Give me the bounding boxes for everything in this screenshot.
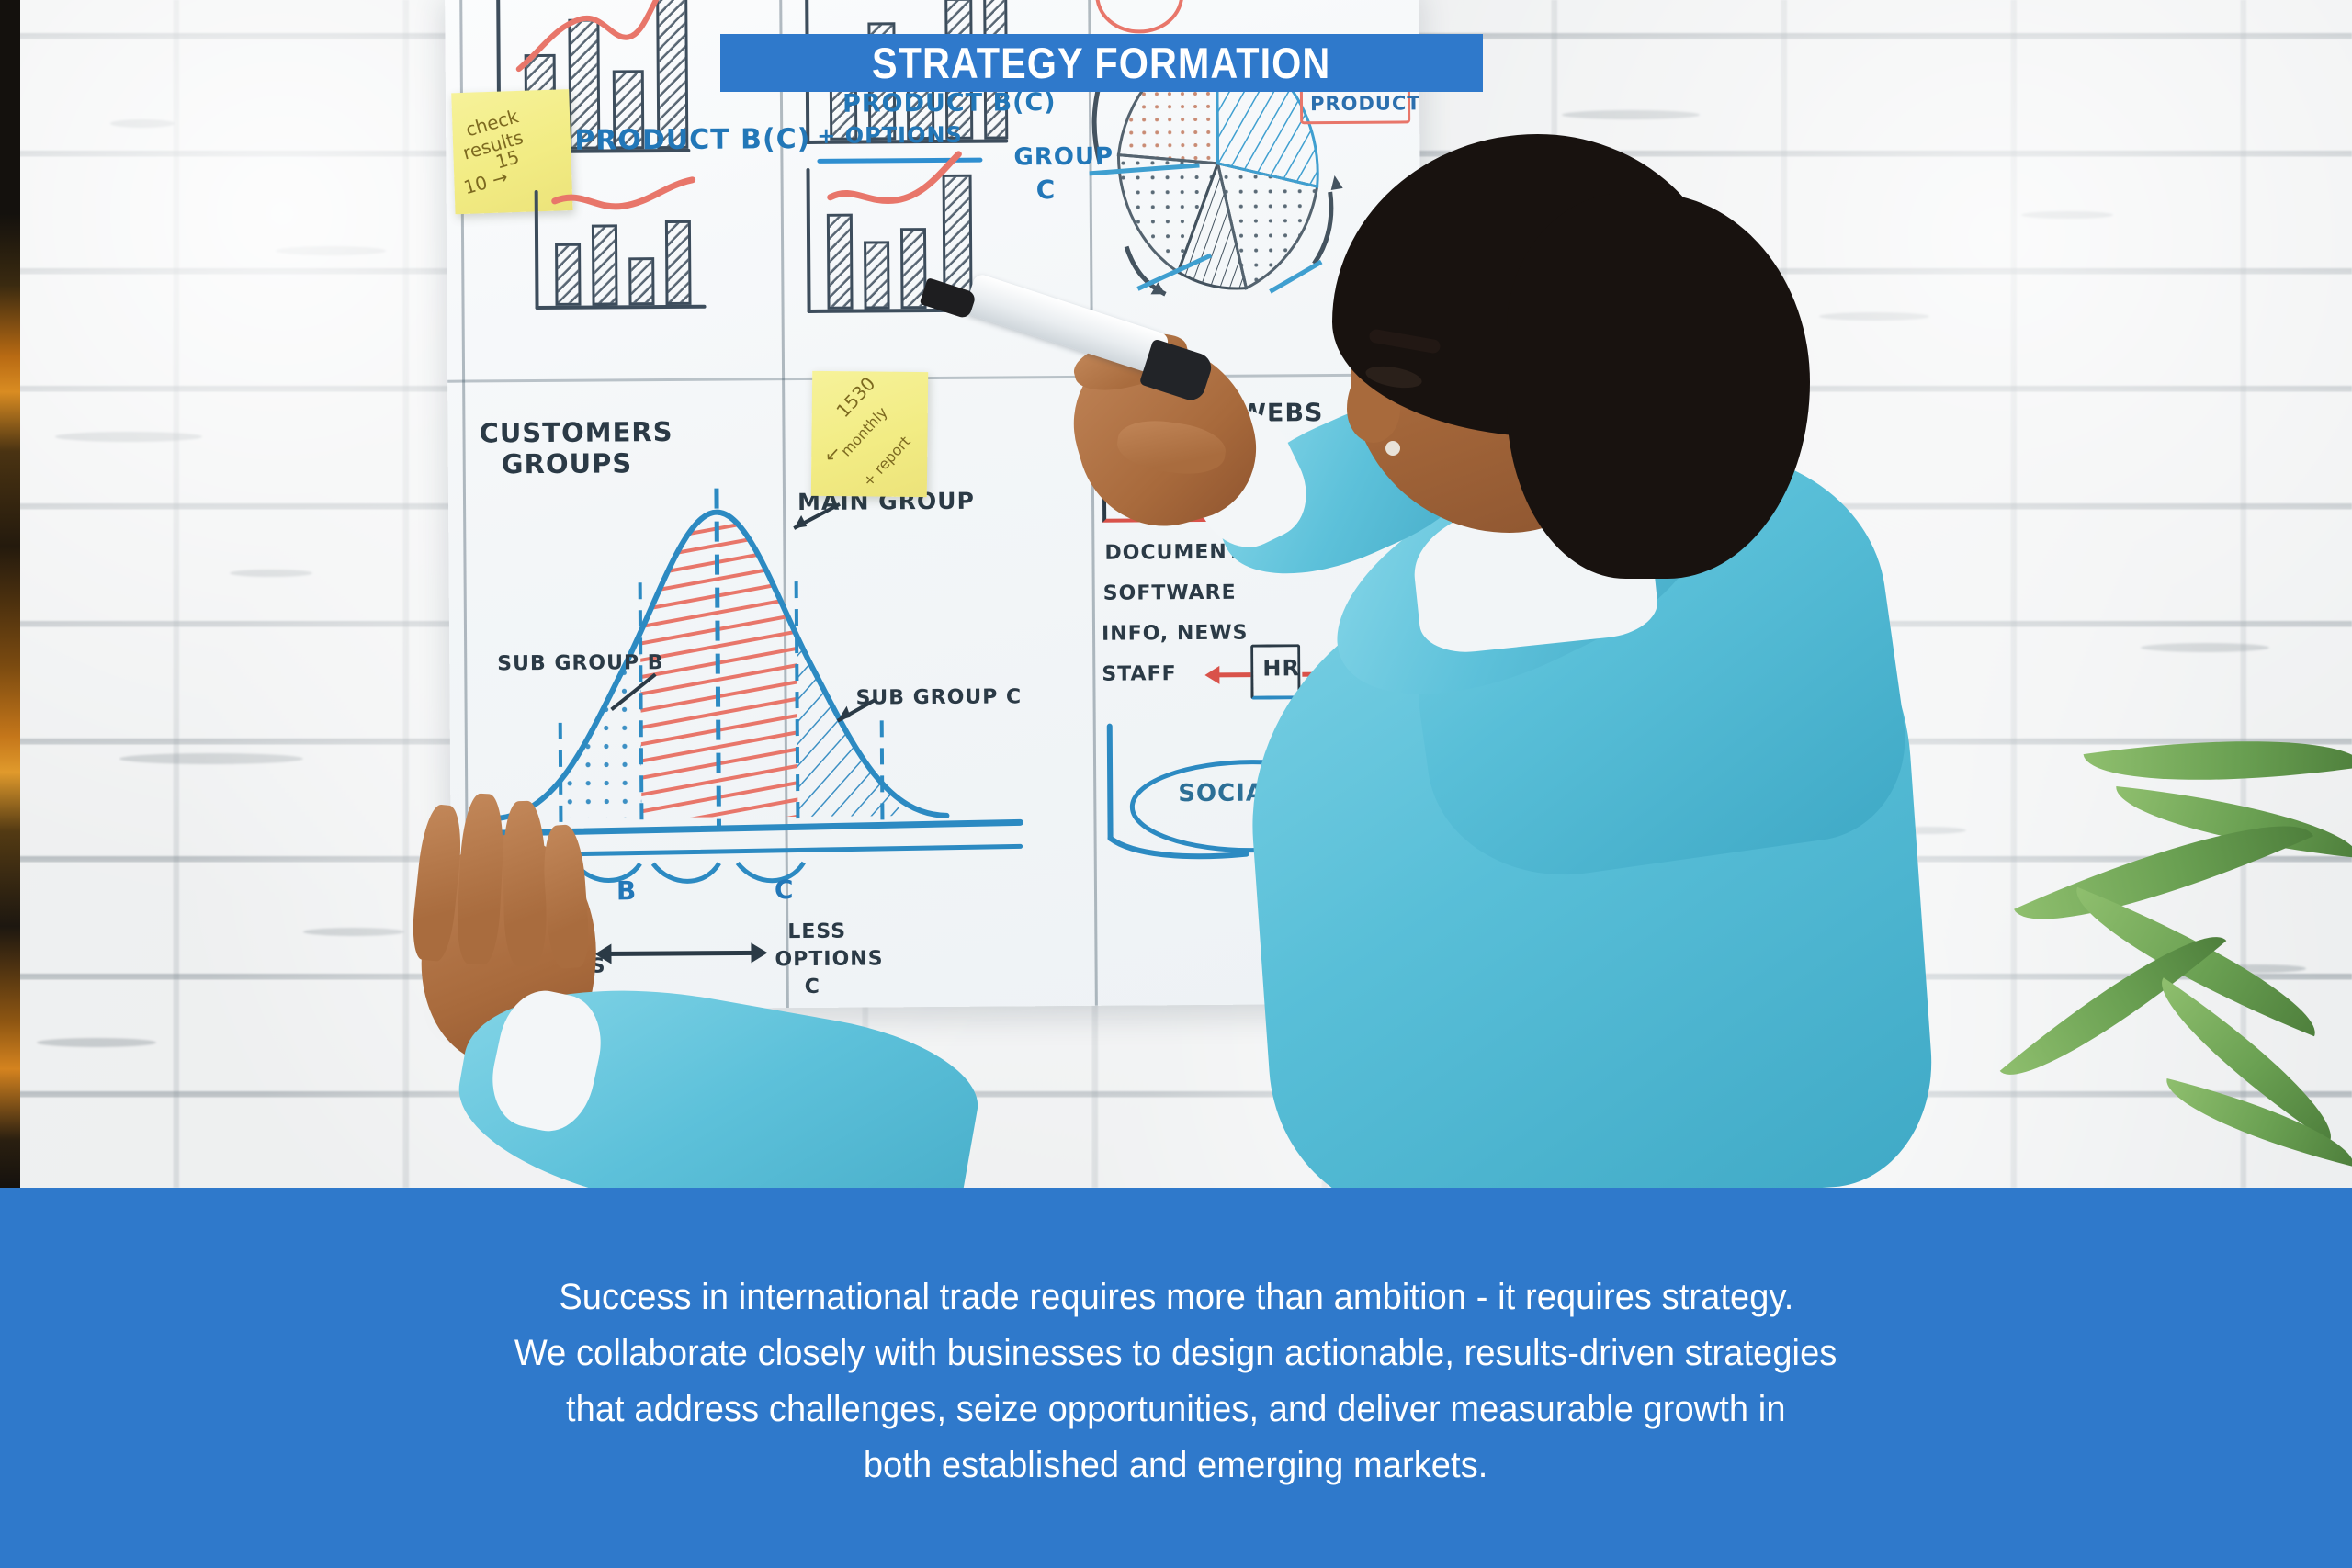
label-less-options-2: OPTIONS bbox=[775, 948, 883, 971]
left-edge-strip bbox=[0, 0, 20, 1188]
sticky-note-1530: 1530 monthly ← + report bbox=[811, 371, 928, 497]
footer-line-4: both established and emerging markets. bbox=[864, 1438, 1488, 1494]
person-writing-on-whiteboard bbox=[937, 138, 1966, 1188]
footer-description-band: Success in international trade requires … bbox=[0, 1188, 2352, 1568]
label-product-boxed: PRODUCT bbox=[1310, 93, 1421, 115]
label-axis-b: B bbox=[616, 876, 638, 906]
note-line-4: 10 → bbox=[461, 165, 510, 198]
bar-chart-product-b-c bbox=[535, 189, 707, 310]
potted-plant bbox=[1975, 707, 2352, 1185]
hair-back bbox=[1507, 193, 1810, 579]
label-customers-1: CUSTOMERS bbox=[479, 417, 673, 448]
label-less-options-1: LESS bbox=[787, 921, 846, 944]
note-line-4: + report bbox=[859, 433, 914, 490]
double-arrow-icon bbox=[589, 925, 773, 981]
finger-3 bbox=[502, 801, 547, 967]
label-product-b-c-options-1: PRODUCT B(C) bbox=[842, 89, 1057, 118]
footer-line-2: We collaborate closely with businesses t… bbox=[514, 1325, 1837, 1382]
poster-root: NEW check results 15 10 → PRODUCT B(C) bbox=[0, 0, 2352, 1568]
footer-line-1: Success in international trade requires … bbox=[559, 1269, 1793, 1325]
strategy-formation-banner: STRATEGY FORMATION bbox=[720, 34, 1483, 92]
footer-line-3: that address challenges, seize opportuni… bbox=[566, 1382, 1786, 1438]
hero-photo: NEW check results 15 10 → PRODUCT B(C) bbox=[0, 0, 2352, 1188]
label-less-options-3: C bbox=[805, 976, 820, 999]
whiteboard-marker bbox=[963, 273, 1170, 376]
banner-title: STRATEGY FORMATION bbox=[872, 38, 1330, 88]
label-axis-c: C bbox=[775, 875, 795, 905]
trend-line bbox=[535, 169, 718, 234]
label-product-b-c: PRODUCT B(C) bbox=[574, 124, 810, 156]
earring bbox=[1385, 441, 1400, 456]
label-sub-group-b: SUB GROUP B bbox=[497, 652, 663, 676]
